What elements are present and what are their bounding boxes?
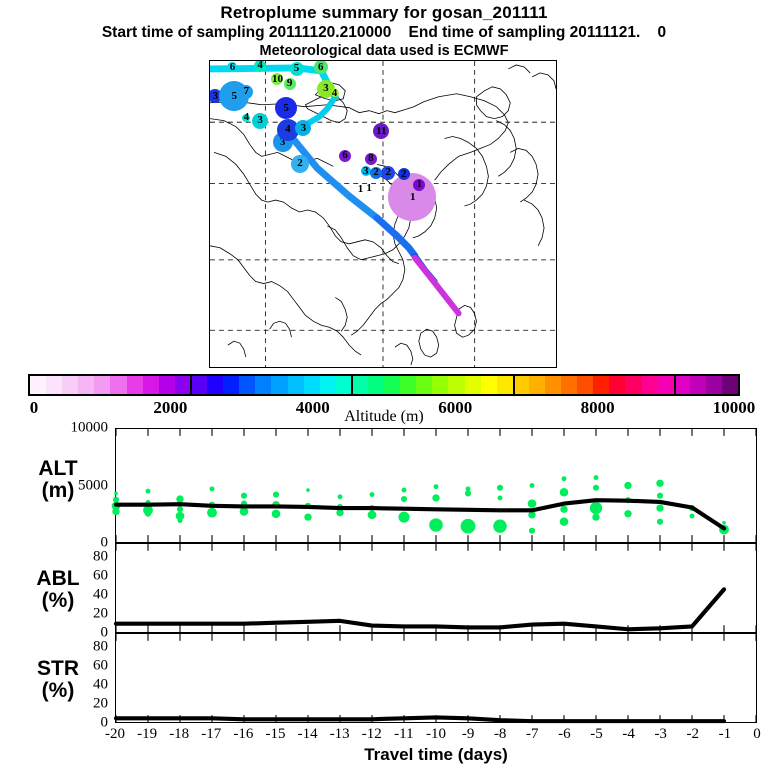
cluster-marker-label: 4: [257, 60, 263, 71]
met-data-line: Meteorological data used is ECMWF: [0, 42, 768, 60]
colorbar-swatch-31: [529, 376, 545, 394]
colorbar-swatch-26: [448, 376, 464, 394]
alt-cluster-dot: [146, 489, 151, 494]
colorbar-swatch-9: [175, 376, 191, 394]
y-tick-80: 80: [40, 549, 108, 566]
cluster-marker[interactable]: 6: [227, 62, 237, 72]
cluster-marker[interactable]: 10: [271, 73, 283, 85]
cluster-marker-label: 8: [368, 153, 374, 164]
colorbar-title: Altitude (m): [0, 408, 768, 426]
colorbar-swatch-14: [255, 376, 271, 394]
alt-cluster-dot: [207, 508, 217, 518]
colorbar-swatch-20: [352, 376, 368, 394]
colorbar-swatch-28: [481, 376, 497, 394]
map-canvas: [210, 61, 556, 367]
cluster-marker[interactable]: 8: [365, 153, 377, 165]
cluster-marker[interactable]: 5: [290, 62, 304, 76]
alt-cluster-dot: [240, 507, 249, 516]
alt-cluster-dot: [497, 485, 503, 491]
colorbar-swatch-18: [320, 376, 336, 394]
cluster-marker-label: 6: [230, 62, 236, 73]
alt-cluster-dot: [432, 494, 439, 501]
alt-cluster-dot: [304, 513, 311, 520]
altitude-colorbar[interactable]: [28, 374, 740, 396]
sampling-time-line: Start time of sampling 20111120.210000 E…: [0, 23, 768, 42]
abl-line: [116, 589, 724, 629]
x-tick-label--10: -10: [426, 726, 446, 743]
cluster-marker-label: 3: [257, 115, 263, 126]
title-block: Retroplume summary for gosan_201111 Star…: [0, 0, 768, 60]
colorbar-swatch-10: [191, 376, 207, 394]
alt-cluster-dot: [530, 483, 535, 488]
colorbar-divider-0: [190, 374, 192, 396]
alt-cluster-dot: [562, 476, 567, 481]
cluster-marker[interactable]: 4: [242, 114, 250, 122]
colorbar-divider-1: [351, 374, 353, 396]
page-title: Retroplume summary for gosan_201111: [0, 3, 768, 23]
alt-panel[interactable]: [115, 428, 757, 543]
alt-plot: [116, 429, 756, 542]
x-tick-label--16: -16: [233, 726, 253, 743]
x-tick-label--8: -8: [494, 726, 507, 743]
alt-cluster-dot: [398, 512, 409, 523]
colorbar-swatch-13: [239, 376, 255, 394]
str-panel[interactable]: [115, 633, 757, 723]
colorbar-swatch-27: [465, 376, 481, 394]
alt-cluster-dot: [657, 493, 663, 499]
cluster-marker-label: 3: [301, 123, 307, 134]
alt-cluster-dot: [112, 508, 119, 515]
colorbar-swatch-35: [593, 376, 609, 394]
alt-cluster-dot: [656, 480, 663, 487]
cluster-marker[interactable]: 11: [373, 123, 389, 139]
colorbar-swatch-7: [143, 376, 159, 394]
x-tick-label--18: -18: [169, 726, 189, 743]
cluster-marker-label: 5: [283, 103, 289, 114]
y-tick-60: 60: [40, 568, 108, 585]
retroplume-summary-figure: Retroplume summary for gosan_201111 Star…: [0, 0, 768, 768]
x-tick-label--4: -4: [622, 726, 635, 743]
colorbar-swatch-0: [30, 376, 46, 394]
x-tick-label--15: -15: [266, 726, 286, 743]
alt-cluster-dot: [528, 499, 537, 508]
x-axis-title: Travel time (days): [115, 745, 757, 765]
alt-cluster-dot: [402, 488, 407, 493]
x-tick-label--5: -5: [590, 726, 603, 743]
cluster-marker[interactable]: 5: [275, 97, 297, 119]
cluster-marker-label: 11: [376, 126, 386, 137]
alt-cluster-dot: [241, 493, 247, 499]
y-tick-5000: 5000: [40, 477, 108, 494]
alt-cluster-dot: [176, 495, 183, 502]
alt-mean-line: [116, 500, 724, 528]
alt-cluster-dot: [429, 518, 443, 531]
alt-cluster-dot: [272, 509, 281, 518]
cluster-marker-label: 5: [294, 63, 300, 74]
x-tick-label--17: -17: [201, 726, 221, 743]
cluster-marker-label: 10: [272, 74, 283, 85]
colorbar-divider-2: [513, 374, 515, 396]
colorbar-swatch-8: [159, 376, 175, 394]
alt-cluster-dot: [465, 490, 471, 496]
alt-cluster-dot: [657, 519, 663, 525]
alt-cluster-dot: [461, 519, 476, 534]
cluster-marker-label: 1: [417, 179, 423, 190]
colorbar-swatch-37: [625, 376, 641, 394]
y-tick-10000: 10000: [40, 420, 108, 437]
cluster-marker-label: 9: [287, 78, 293, 89]
colorbar-swatch-17: [304, 376, 320, 394]
cluster-marker[interactable]: 2: [291, 155, 309, 173]
x-tick-label--9: -9: [462, 726, 475, 743]
alt-cluster-dot: [560, 488, 569, 497]
alt-cluster-dot: [338, 494, 343, 499]
colorbar-swatch-11: [207, 376, 223, 394]
str-plot: [116, 634, 756, 722]
alt-cluster-dot: [401, 496, 407, 502]
alt-cluster-dot: [592, 513, 599, 520]
alt-cluster-dot: [210, 486, 215, 491]
alt-cluster-dot: [273, 491, 279, 497]
map-day-label: 1: [366, 182, 372, 194]
cluster-marker[interactable]: 9: [284, 78, 296, 90]
retroplume-map[interactable]: 1 122328611234334535734910654611: [209, 60, 557, 368]
colorbar-swatch-25: [432, 376, 448, 394]
x-tick-label--1: -1: [719, 726, 732, 743]
cluster-marker-label: 7: [244, 86, 250, 97]
colorbar-swatch-39: [658, 376, 674, 394]
y-tick-40: 40: [40, 587, 108, 604]
colorbar-swatch-41: [690, 376, 706, 394]
cluster-marker-label: 6: [342, 150, 348, 161]
alt-cluster-dot: [145, 511, 151, 517]
x-tick-label--19: -19: [137, 726, 157, 743]
cluster-marker-label: 2: [373, 167, 379, 178]
alt-cluster-dot: [114, 492, 118, 496]
x-tick-label--14: -14: [298, 726, 318, 743]
abl-panel[interactable]: [115, 543, 757, 633]
cluster-marker-label: 2: [401, 169, 407, 180]
cluster-marker[interactable]: 2: [381, 166, 395, 180]
colorbar-swatch-22: [384, 376, 400, 394]
cluster-marker[interactable]: 4: [331, 89, 339, 97]
colorbar-swatch-16: [288, 376, 304, 394]
colorbar-swatch-34: [577, 376, 593, 394]
alt-cluster-dot: [306, 488, 310, 492]
cluster-marker[interactable]: 1: [413, 179, 425, 191]
cluster-marker-label: 5: [231, 91, 237, 102]
alt-cluster-dot: [560, 506, 567, 513]
colorbar-swatch-3: [78, 376, 94, 394]
alt-cluster-dot: [624, 482, 631, 489]
colorbar-swatch-43: [722, 376, 738, 394]
colorbar-swatch-33: [561, 376, 577, 394]
x-tick-label-0: 0: [753, 726, 761, 743]
cluster-marker[interactable]: 7: [239, 85, 253, 99]
alt-cluster-dot: [593, 485, 599, 491]
cluster-marker-label: 3: [363, 166, 369, 177]
alt-cluster-dot: [590, 502, 602, 514]
alt-cluster-dot: [178, 518, 183, 523]
alt-cluster-dot: [560, 517, 569, 526]
cluster-marker-label: 2: [385, 167, 391, 178]
colorbar-swatch-30: [513, 376, 529, 394]
cluster-marker-label: 4: [285, 124, 291, 135]
colorbar-swatch-32: [545, 376, 561, 394]
colorbar-swatch-24: [416, 376, 432, 394]
cluster-marker[interactable]: 3: [252, 113, 268, 129]
colorbar-swatch-38: [642, 376, 658, 394]
colorbar-swatch-42: [706, 376, 722, 394]
alt-cluster-dot: [529, 528, 535, 534]
colorbar-swatch-23: [400, 376, 416, 394]
alt-cluster-dot: [493, 519, 507, 532]
y-tick-60: 60: [40, 658, 108, 675]
colorbar-swatch-1: [46, 376, 62, 394]
alt-cluster-dot: [368, 511, 377, 520]
alt-cluster-dot: [656, 504, 663, 511]
alt-cluster-dot: [434, 484, 439, 489]
cluster-marker[interactable]: 2: [370, 167, 382, 179]
x-tick-label--2: -2: [687, 726, 700, 743]
release-marker-label: 1: [410, 191, 416, 203]
cluster-marker-label: 3: [323, 83, 329, 94]
colorbar-swatch-5: [110, 376, 126, 394]
x-tick-label--13: -13: [330, 726, 350, 743]
alt-cluster-dot: [594, 475, 599, 480]
cluster-marker[interactable]: 4: [254, 60, 266, 72]
alt-cluster-dot: [722, 521, 726, 525]
cluster-marker-label: 2: [297, 158, 303, 169]
x-tick-label--20: -20: [105, 726, 125, 743]
x-tick-label--12: -12: [362, 726, 382, 743]
colorbar-swatch-29: [497, 376, 513, 394]
cluster-marker[interactable]: 6: [314, 60, 328, 74]
y-tick-0: 0: [40, 715, 108, 732]
cluster-marker[interactable]: 3: [295, 120, 311, 136]
abl-plot: [116, 544, 756, 632]
x-tick-label--3: -3: [654, 726, 667, 743]
cluster-marker-label: 6: [318, 62, 324, 73]
x-tick-label--6: -6: [558, 726, 571, 743]
cluster-marker-label: 3: [212, 91, 218, 102]
y-tick-20: 20: [40, 606, 108, 623]
cluster-marker[interactable]: 2: [398, 168, 410, 180]
colorbar-swatch-36: [609, 376, 625, 394]
colorbar-swatch-2: [62, 376, 78, 394]
colorbar-swatch-19: [336, 376, 352, 394]
y-tick-40: 40: [40, 677, 108, 694]
alt-cluster-dot: [498, 495, 503, 500]
colorbar-divider-3: [674, 374, 676, 396]
colorbar-swatch-6: [127, 376, 143, 394]
map-day-label: 1: [358, 183, 364, 195]
y-tick-20: 20: [40, 696, 108, 713]
colorbar-swatch-4: [94, 376, 110, 394]
alt-cluster-dot: [177, 506, 183, 512]
alt-cluster-dot: [624, 510, 631, 517]
colorbar-swatch-15: [271, 376, 287, 394]
colorbar-swatch-21: [368, 376, 384, 394]
alt-cluster-dot: [370, 492, 375, 497]
alt-cluster-dot: [690, 514, 695, 519]
x-tick-label--11: -11: [394, 726, 413, 743]
colorbar-swatch-12: [223, 376, 239, 394]
x-tick-label--7: -7: [526, 726, 539, 743]
y-tick-80: 80: [40, 639, 108, 656]
map-grid: [210, 61, 556, 367]
str-line: [116, 717, 724, 721]
cluster-marker[interactable]: 6: [339, 150, 351, 162]
